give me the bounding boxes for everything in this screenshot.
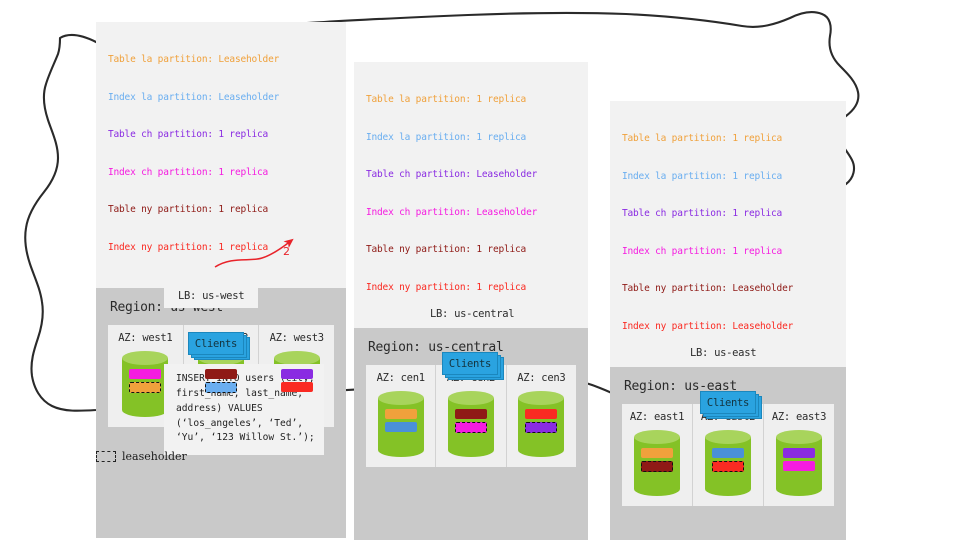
clients-label: Clients [442,352,498,375]
replica-bar [783,448,815,458]
cylinder-top [518,391,564,405]
annotation-step-number: 2 [283,245,290,258]
legend-line: Table ch partition: 1 replica [108,129,336,142]
leaseholder-swatch-icon [96,451,116,462]
cylinder-top [776,430,822,444]
cylinder-west1[interactable] [122,351,168,417]
cylinder-top [705,430,751,444]
cylinder-east2[interactable] [705,430,751,496]
replica-bars [122,369,168,393]
load-balancer-us-west[interactable]: LB: us-west [164,284,258,308]
az-label: AZ: west1 [108,332,183,344]
cylinder-cen1[interactable] [378,391,424,457]
legend-us-central: Table la partition: 1 replica Index la p… [354,62,588,328]
replica-bar [712,461,744,472]
clients-us-central[interactable]: Clients [442,352,504,380]
leaseholder-legend: leaseholder [96,450,187,463]
replica-bar [455,409,487,419]
clients-us-west[interactable]: Clients [188,332,250,360]
az-label: AZ: west3 [259,332,334,344]
legend-line: Table ny partition: 1 replica [366,244,578,257]
replica-bar [712,448,744,458]
legend-us-west: Table la partition: Leaseholder Index la… [96,22,346,288]
legend-line: Index ny partition: 1 replica [366,282,578,295]
cylinder-top [122,351,168,365]
replica-bar [641,448,673,458]
cylinder-cen3[interactable] [518,391,564,457]
replica-bars [634,448,680,472]
clients-label: Clients [700,391,756,414]
legend-line: Index la partition: 1 replica [366,132,578,145]
leaseholder-legend-label: leaseholder [122,450,187,463]
region-cluster-us-central: Table la partition: 1 replica Index la p… [354,62,588,540]
cylinder-east1[interactable] [634,430,680,496]
replica-bar [129,382,161,393]
region-cluster-us-east: Table la partition: 1 replica Index la p… [610,101,846,540]
legend-line: Index ch partition: Leaseholder [366,207,578,220]
legend-line: Index ny partition: Leaseholder [622,321,836,334]
legend-line: Table ny partition: Leaseholder [622,283,836,296]
load-balancer-us-east[interactable]: LB: us-east [676,341,770,365]
az-cell-cen3[interactable]: AZ: cen3 [507,365,576,467]
diagram-canvas: Table la partition: Leaseholder Index la… [0,0,960,540]
replica-bar [129,369,161,379]
legend-line: Index la partition: Leaseholder [108,92,336,105]
replica-bar [641,461,673,472]
legend-line: Index ny partition: 1 replica [108,242,336,255]
cylinder-top [448,391,494,405]
legend-line: Table la partition: Leaseholder [108,54,336,67]
replica-bar [525,409,557,419]
replica-bars [274,369,320,392]
replica-bar [281,382,313,392]
legend-us-east: Table la partition: 1 replica Index la p… [610,101,846,367]
clients-us-east[interactable]: Clients [700,391,762,419]
legend-line: Table ny partition: 1 replica [108,204,336,217]
load-balancer-us-central[interactable]: LB: us-central [416,302,528,326]
replica-bars [198,369,244,393]
cylinder-top [634,430,680,444]
legend-line: Index ch partition: 1 replica [622,246,836,259]
legend-line: Index la partition: 1 replica [622,171,836,184]
az-cell-east3[interactable]: AZ: east3 [764,404,834,506]
replica-bar [385,422,417,432]
replica-bar [281,369,313,379]
replica-bar [205,382,237,393]
legend-line: Index ch partition: 1 replica [108,167,336,180]
az-label: AZ: east1 [622,411,692,423]
legend-line: Table la partition: 1 replica [366,94,578,107]
az-cell-cen1[interactable]: AZ: cen1 [366,365,436,467]
az-label: AZ: east3 [764,411,834,423]
replica-bar [385,409,417,419]
cylinder-cen2[interactable] [448,391,494,457]
replica-bar [783,461,815,471]
replica-bars [448,409,494,433]
replica-bars [705,448,751,472]
cylinder-top [274,351,320,365]
replica-bars [776,448,822,471]
replica-bars [518,409,564,433]
az-cell-east1[interactable]: AZ: east1 [622,404,693,506]
replica-bar [525,422,557,433]
az-label: AZ: cen3 [507,372,576,384]
az-label: AZ: cen1 [366,372,435,384]
clients-label: Clients [188,332,244,355]
replica-bar [205,369,237,379]
replica-bars [378,409,424,432]
legend-line: Table la partition: 1 replica [622,133,836,146]
legend-line: Table ch partition: 1 replica [622,208,836,221]
replica-bar [455,422,487,433]
cylinder-top [378,391,424,405]
legend-line: Table ch partition: Leaseholder [366,169,578,182]
cylinder-east3[interactable] [776,430,822,496]
